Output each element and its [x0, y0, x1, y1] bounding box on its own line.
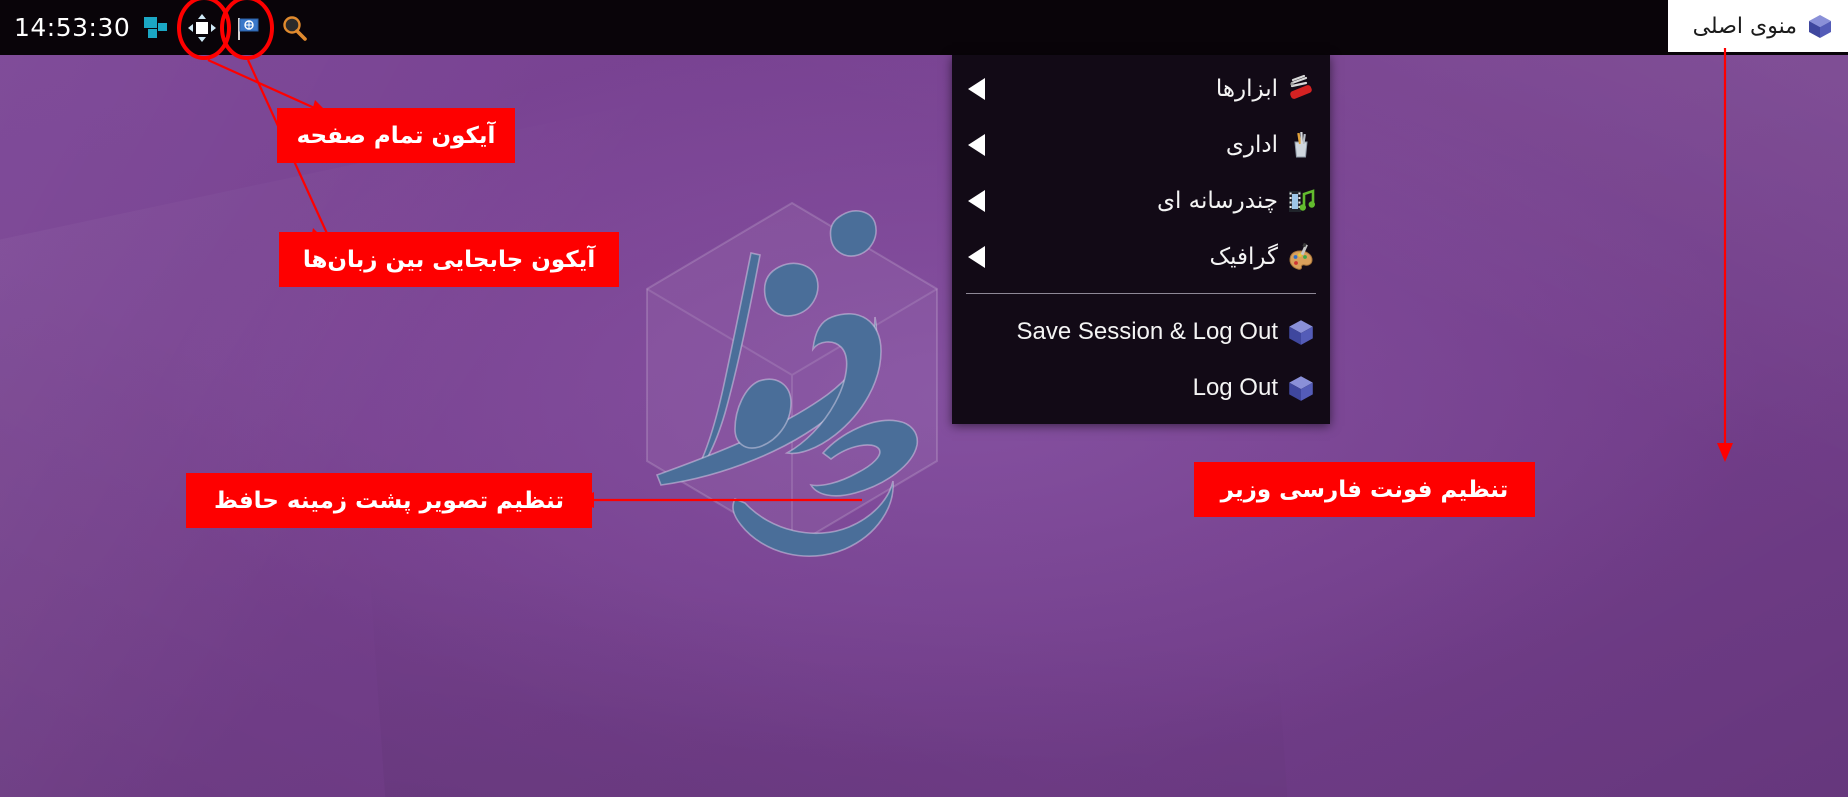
- submenu-arrow-icon: [968, 134, 985, 156]
- menu-item-office-label: اداری: [1226, 132, 1278, 158]
- calligraphy-glyph-icon: [627, 185, 957, 585]
- menu-item-tools[interactable]: ابزارها: [952, 61, 1330, 117]
- menu-item-multimedia[interactable]: چندرسانه ای: [952, 173, 1330, 229]
- palette-icon: [1284, 240, 1318, 274]
- swiss-army-knife-icon: [1284, 72, 1318, 106]
- workspace-switcher-icon[interactable]: [140, 12, 172, 44]
- menu-item-save-session-label: Save Session & Log Out: [1017, 318, 1279, 346]
- menu-separator: [966, 293, 1316, 294]
- desktop-background[interactable]: [0, 55, 1848, 797]
- menu-item-office[interactable]: اداری: [952, 117, 1330, 173]
- blue-cube-icon: [1806, 12, 1834, 40]
- blue-cube-icon: [1284, 315, 1318, 349]
- menu-item-multimedia-label: چندرسانه ای: [1157, 188, 1278, 214]
- menu-item-save-session-log-out[interactable]: Save Session & Log Out: [952, 304, 1330, 360]
- pen-cup-icon: [1284, 128, 1318, 162]
- clock[interactable]: 14:53:30: [14, 0, 130, 55]
- menu-item-log-out[interactable]: Log Out: [952, 360, 1330, 416]
- film-music-icon: [1284, 184, 1318, 218]
- main-menu-dropdown: ابزارها اداری: [952, 55, 1330, 424]
- hafez-logo: [627, 185, 957, 585]
- main-menu-label: منوی اصلی: [1693, 14, 1797, 39]
- search-icon[interactable]: [278, 12, 310, 44]
- keyboard-layout-flag-icon[interactable]: [232, 12, 264, 44]
- fullscreen-icon[interactable]: [186, 12, 218, 44]
- submenu-arrow-icon: [968, 246, 985, 268]
- screen-root: 14:53:30: [0, 0, 1848, 797]
- submenu-arrow-icon: [968, 190, 985, 212]
- blue-cube-icon: [1284, 371, 1318, 405]
- main-menu-button[interactable]: منوی اصلی: [1668, 0, 1848, 52]
- menu-item-graphics-label: گرافیک: [1209, 244, 1278, 270]
- menu-item-graphics[interactable]: گرافیک: [952, 229, 1330, 285]
- top-panel: 14:53:30: [0, 0, 1848, 55]
- menu-item-tools-label: ابزارها: [1216, 76, 1278, 102]
- panel-icon-tray: [140, 0, 310, 55]
- submenu-arrow-icon: [968, 78, 985, 100]
- menu-item-log-out-label: Log Out: [1193, 374, 1278, 402]
